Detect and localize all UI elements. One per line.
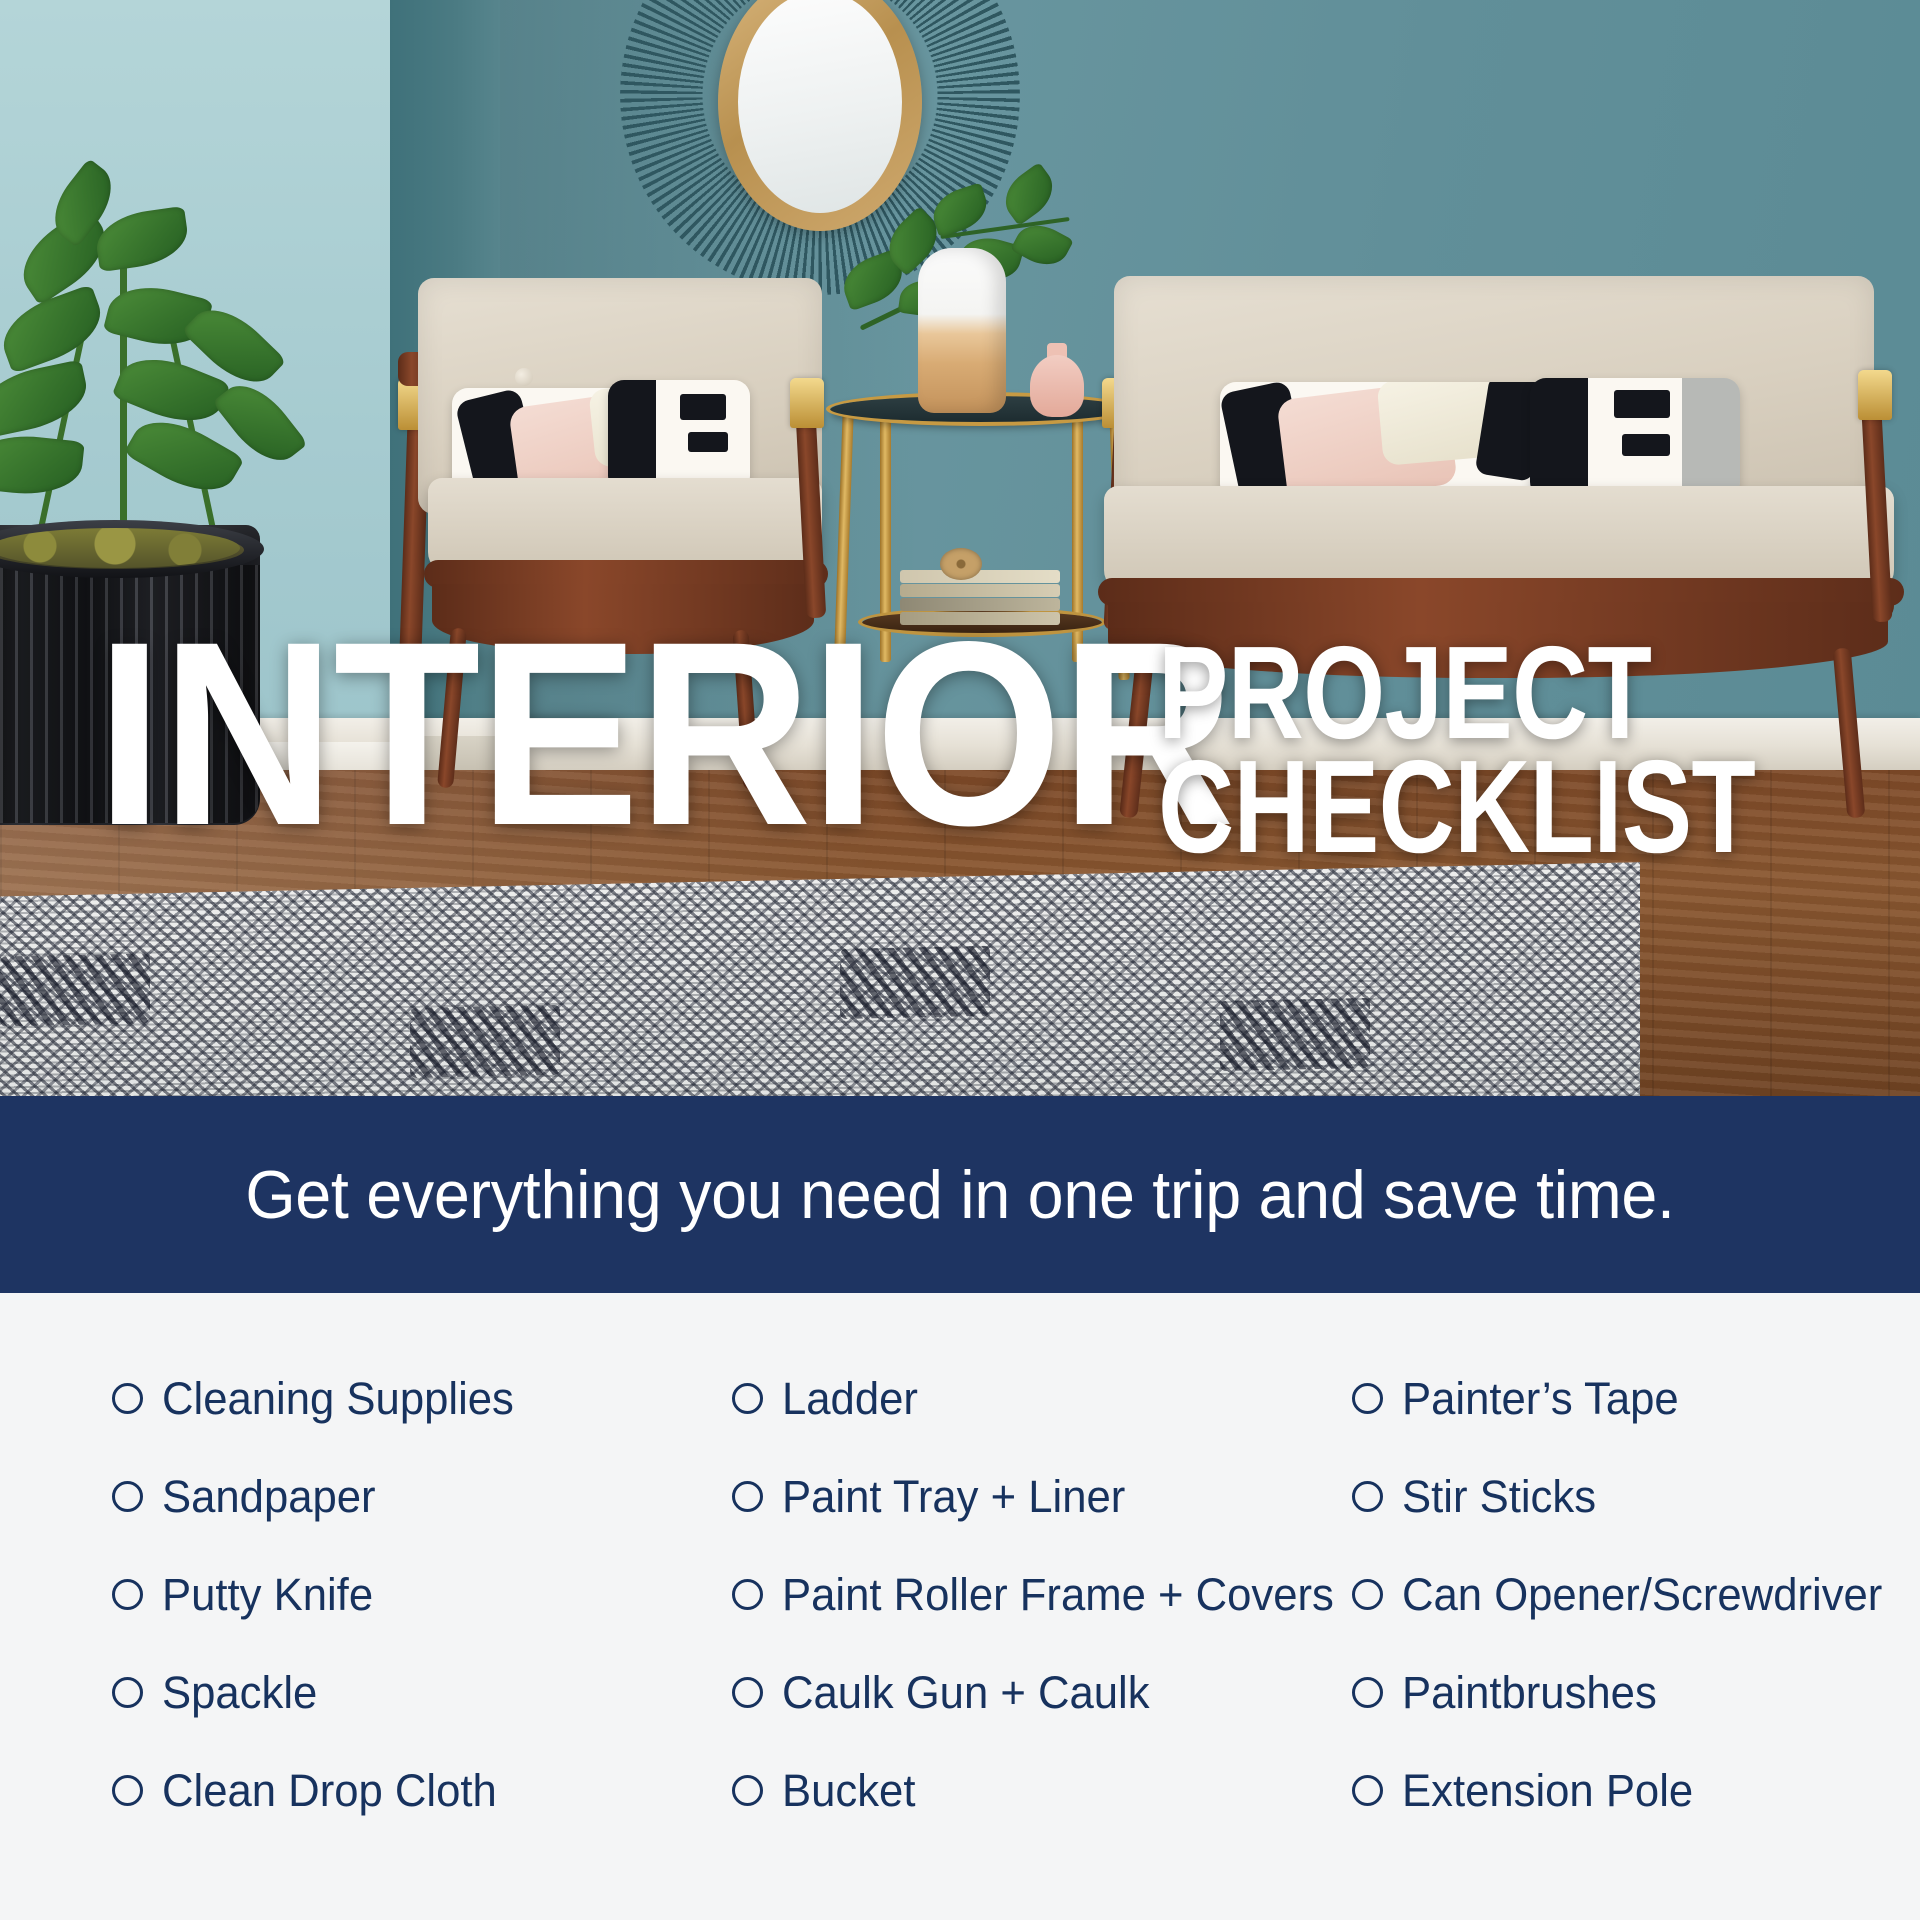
plant-moss: [0, 528, 240, 568]
checkbox-circle-icon[interactable]: [112, 1383, 143, 1414]
checklist-item-label: Spackle: [162, 1670, 317, 1715]
checklist-item[interactable]: Bucket: [732, 1741, 1352, 1839]
room-photo-scene: [0, 0, 1920, 1100]
checklist-item[interactable]: Spackle: [112, 1643, 732, 1741]
checklist-item[interactable]: Caulk Gun + Caulk: [732, 1643, 1352, 1741]
checklist-item[interactable]: Ladder: [732, 1349, 1352, 1447]
checklist-item-label: Paint Tray + Liner: [782, 1474, 1125, 1519]
tagline-banner: Get everything you need in one trip and …: [0, 1096, 1920, 1293]
checklist-item[interactable]: Painter’s Tape: [1352, 1349, 1872, 1447]
checklist-item-label: Clean Drop Cloth: [162, 1768, 497, 1813]
lotus-pod: [940, 548, 982, 580]
checklist-item[interactable]: Can Opener/Screwdriver: [1352, 1545, 1872, 1643]
rug-motif: [410, 1005, 560, 1078]
checkbox-circle-icon[interactable]: [1352, 1677, 1383, 1708]
rug-motif: [0, 953, 150, 1026]
checkbox-circle-icon[interactable]: [1352, 1579, 1383, 1610]
rug-motif: [1220, 998, 1370, 1071]
checklist-item-label: Bucket: [782, 1768, 915, 1813]
checkbox-circle-icon[interactable]: [732, 1481, 763, 1512]
checklist-item-label: Stir Sticks: [1402, 1474, 1596, 1519]
checklist-column-3: Painter’s TapeStir SticksCan Opener/Scre…: [1352, 1349, 1872, 1839]
checkbox-circle-icon[interactable]: [112, 1677, 143, 1708]
rug-motif: [840, 946, 990, 1019]
checklist-item[interactable]: Paintbrushes: [1352, 1643, 1872, 1741]
checklist-item[interactable]: Extension Pole: [1352, 1741, 1872, 1839]
checkbox-circle-icon[interactable]: [1352, 1775, 1383, 1806]
checklist-item[interactable]: Paint Roller Frame + Covers: [732, 1545, 1352, 1643]
checklist-section: Cleaning SuppliesSandpaperPutty KnifeSpa…: [0, 1293, 1920, 1920]
checklist-item-label: Paint Roller Frame + Covers: [782, 1572, 1334, 1617]
checkbox-circle-icon[interactable]: [1352, 1383, 1383, 1414]
tagline-text: Get everything you need in one trip and …: [48, 1096, 1872, 1293]
area-rug: [0, 862, 1640, 1100]
interior-project-checklist-poster: INTERIOR PROJECT CHECKLIST Get everythin…: [0, 0, 1920, 1920]
checklist-item-label: Extension Pole: [1402, 1768, 1693, 1813]
checklist-item-label: Cleaning Supplies: [162, 1376, 514, 1421]
checklist-item[interactable]: Stir Sticks: [1352, 1447, 1872, 1545]
stacked-books: [900, 570, 1060, 626]
white-gold-vase: [918, 248, 1006, 413]
checklist-item-label: Painter’s Tape: [1402, 1376, 1679, 1421]
checklist-item-label: Sandpaper: [162, 1474, 376, 1519]
checklist-item-label: Caulk Gun + Caulk: [782, 1670, 1150, 1715]
checklist-item-label: Putty Knife: [162, 1572, 373, 1617]
blush-bud-vase: [1030, 355, 1084, 417]
checkbox-circle-icon[interactable]: [732, 1383, 763, 1414]
checkbox-circle-icon[interactable]: [112, 1579, 143, 1610]
pillow-right-right-chair: [1530, 378, 1740, 498]
checklist-item-label: Can Opener/Screwdriver: [1402, 1572, 1882, 1617]
checkbox-circle-icon[interactable]: [732, 1677, 763, 1708]
checklist-item[interactable]: Sandpaper: [112, 1447, 732, 1545]
checklist-column-1: Cleaning SuppliesSandpaperPutty KnifeSpa…: [112, 1349, 732, 1839]
checklist-item-label: Ladder: [782, 1376, 918, 1421]
checklist-item-label: Paintbrushes: [1402, 1670, 1657, 1715]
checklist-column-2: LadderPaint Tray + LinerPaint Roller Fra…: [732, 1349, 1352, 1839]
checkbox-circle-icon[interactable]: [1352, 1481, 1383, 1512]
checklist-item[interactable]: Cleaning Supplies: [112, 1349, 732, 1447]
pillow-group-right: [1220, 382, 1550, 500]
checklist-item[interactable]: Clean Drop Cloth: [112, 1741, 732, 1839]
checklist-columns: Cleaning SuppliesSandpaperPutty KnifeSpa…: [112, 1349, 1872, 1839]
checkbox-circle-icon[interactable]: [112, 1775, 143, 1806]
pillow-right-left-chair: [608, 380, 750, 492]
checklist-item[interactable]: Paint Tray + Liner: [732, 1447, 1352, 1545]
checkbox-circle-icon[interactable]: [732, 1775, 763, 1806]
checkbox-circle-icon[interactable]: [732, 1579, 763, 1610]
checklist-item[interactable]: Putty Knife: [112, 1545, 732, 1643]
checkbox-circle-icon[interactable]: [112, 1481, 143, 1512]
